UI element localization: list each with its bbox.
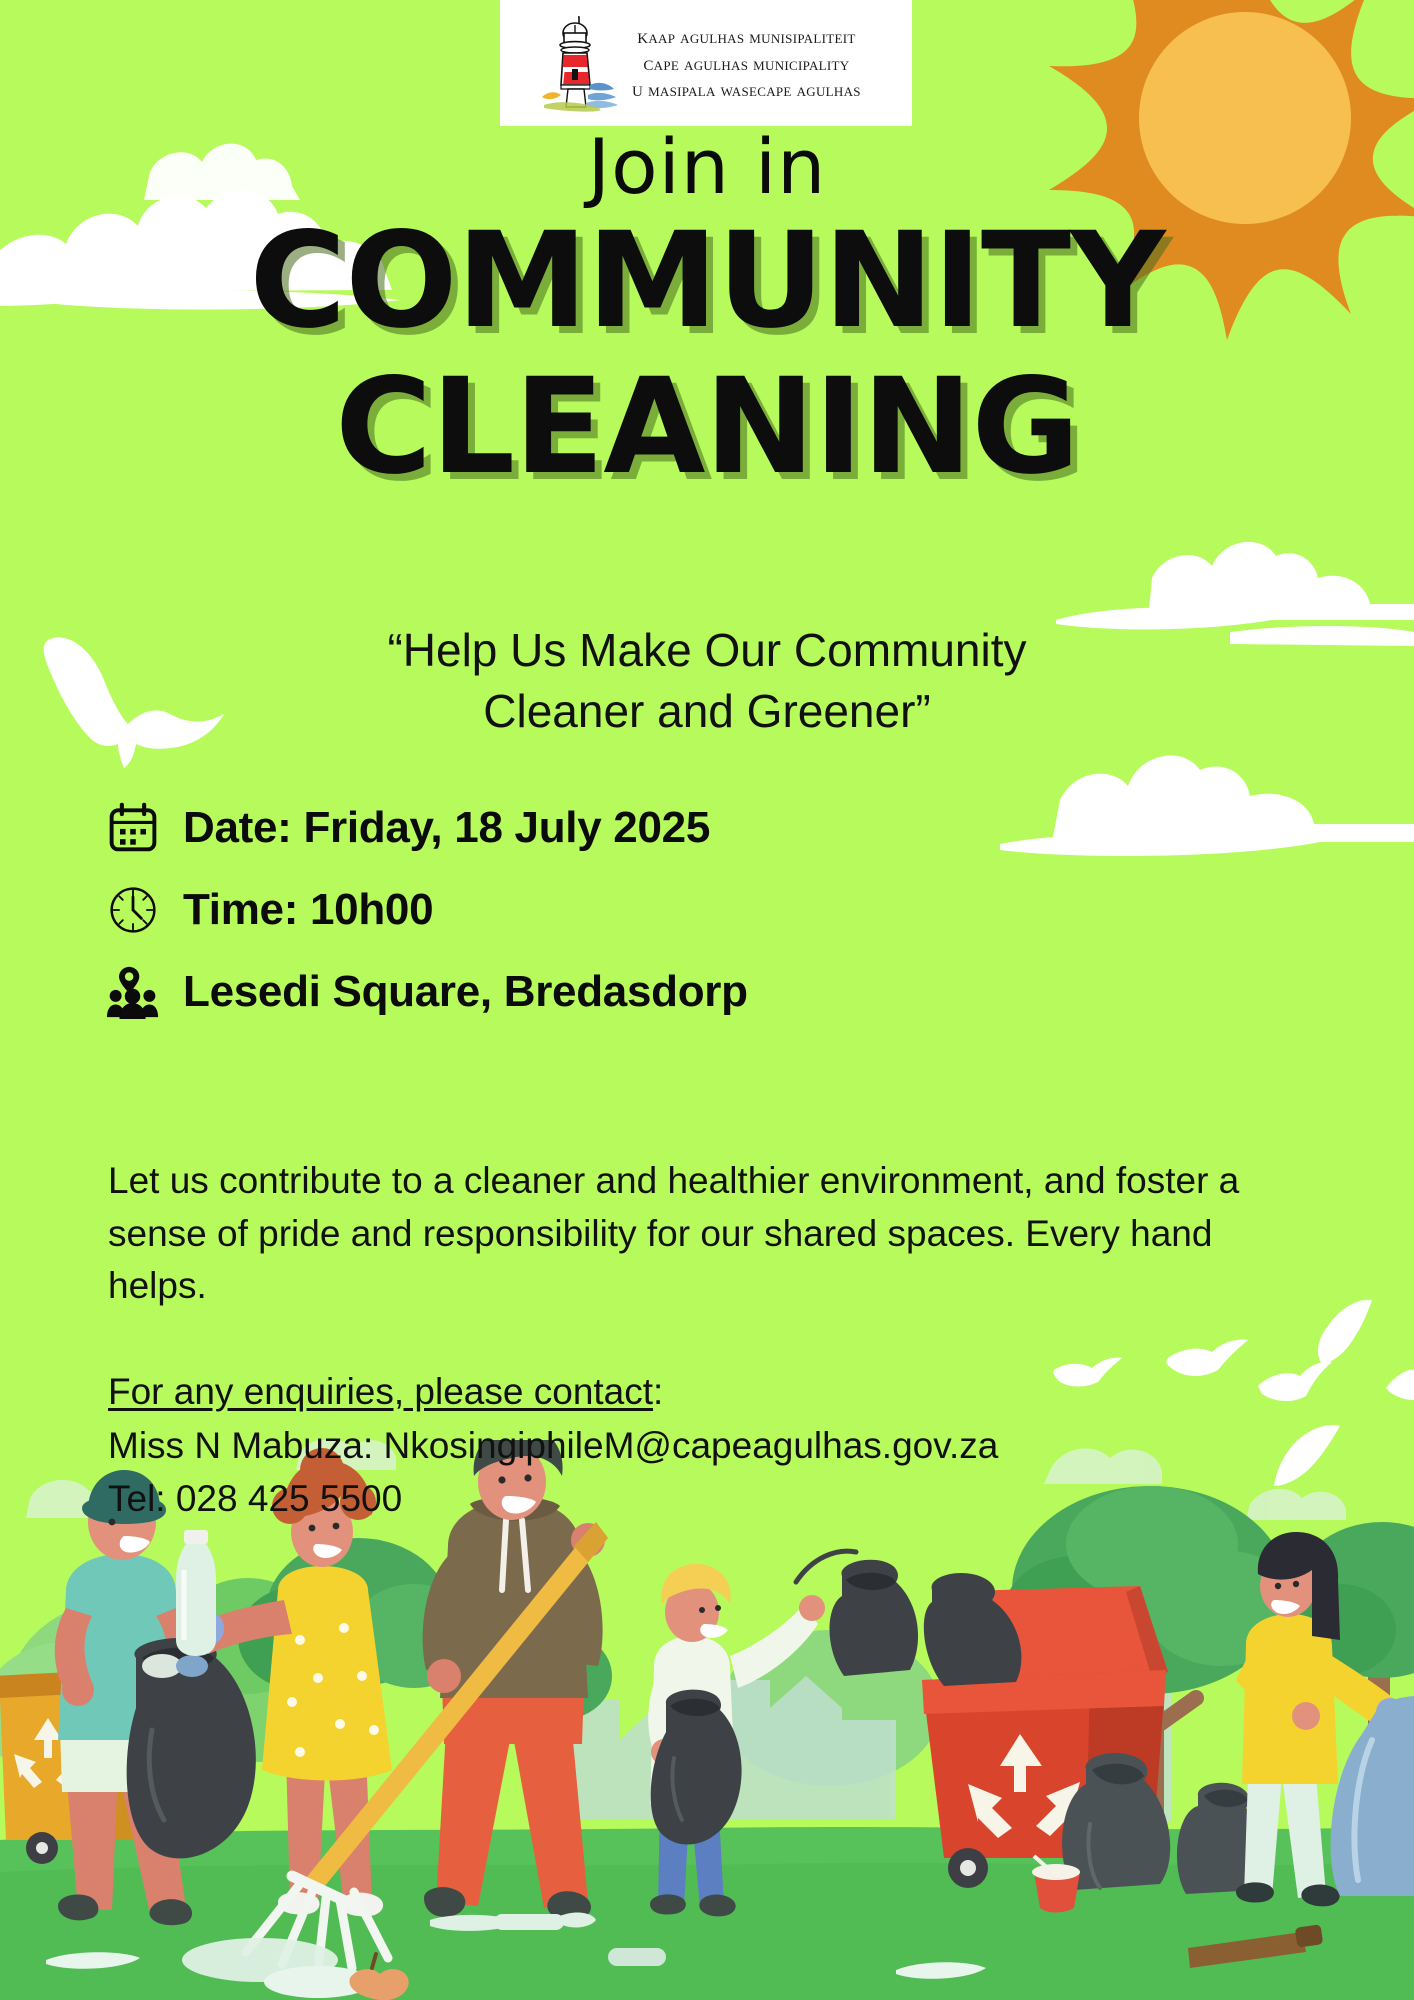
logo-line-af: Kaap Agulhas Munisipaliteit bbox=[637, 23, 855, 50]
poster-canvas: Kaap Agulhas Munisipaliteit Cape Agulhas… bbox=[0, 0, 1414, 2000]
logo-text-lines: Kaap Agulhas Munisipaliteit Cape Agulhas… bbox=[632, 23, 861, 103]
detail-text-time: Time: 10h00 bbox=[183, 885, 433, 935]
subtitle-line-2: Cleaner and Greener” bbox=[0, 681, 1414, 742]
poster-title: COMMUNITY CLEANING bbox=[0, 215, 1414, 493]
municipality-logo: Kaap Agulhas Munisipaliteit Cape Agulhas… bbox=[500, 0, 912, 126]
plastic-bottle bbox=[176, 1530, 216, 1656]
contact-person: Miss N Mabuza: NkosingiphileM@capeagulha… bbox=[108, 1419, 1328, 1473]
clock-icon bbox=[105, 882, 161, 938]
lighthouse-icon bbox=[534, 11, 626, 115]
subtitle-line-1: “Help Us Make Our Community bbox=[0, 620, 1414, 681]
title-line-community: COMMUNITY bbox=[0, 215, 1414, 347]
contact-heading: For any enquiries, please contact bbox=[108, 1371, 653, 1412]
body-paragraph: Let us contribute to a cleaner and healt… bbox=[108, 1155, 1308, 1313]
logo-line-en: Cape Agulhas Municipality bbox=[643, 50, 849, 77]
title-line-cleaning: CLEANING bbox=[0, 361, 1414, 493]
event-details: Date: Friday, 18 July 2025 bbox=[105, 800, 1285, 1046]
detail-row-date: Date: Friday, 18 July 2025 bbox=[105, 800, 1285, 856]
eyebrow-join-in: Join in bbox=[0, 122, 1414, 211]
contact-telephone: Tel: 028 425 5500 bbox=[108, 1472, 1328, 1526]
detail-row-time: Time: 10h00 bbox=[105, 882, 1285, 938]
logo-line-xh: U Masipala Wasecape Agulhas bbox=[632, 76, 861, 103]
detail-text-location: Lesedi Square, Bredasdorp bbox=[183, 967, 748, 1017]
location-people-icon bbox=[105, 964, 161, 1020]
contact-heading-line: For any enquiries, please contact: bbox=[108, 1365, 1328, 1419]
detail-row-location: Lesedi Square, Bredasdorp bbox=[105, 964, 1285, 1020]
contact-block: For any enquiries, please contact: Miss … bbox=[108, 1365, 1328, 1526]
calendar-icon bbox=[105, 800, 161, 856]
poster-subtitle: “Help Us Make Our Community Cleaner and … bbox=[0, 620, 1414, 741]
contact-heading-colon: : bbox=[653, 1371, 663, 1412]
detail-text-date: Date: Friday, 18 July 2025 bbox=[183, 803, 710, 853]
